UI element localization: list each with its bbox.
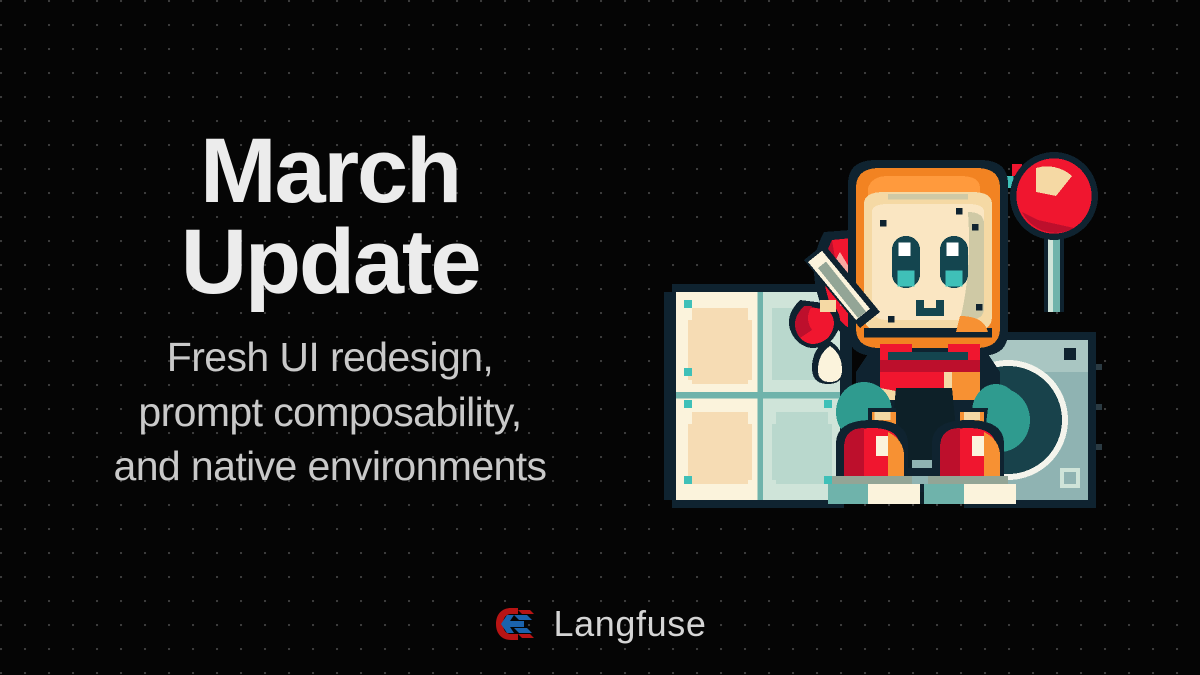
promo-banner: March Update Fresh UI redesign, prompt c… — [0, 0, 1200, 675]
eye-left — [892, 236, 920, 288]
page-title: March Update — [0, 126, 660, 308]
langfuse-logo-icon — [494, 604, 538, 644]
pixel-art-robot-mascot — [640, 108, 1120, 512]
page-subtitle-line-3: and native environments — [26, 439, 634, 494]
helmet — [848, 160, 1008, 356]
eye-right — [940, 236, 968, 288]
page-title-line-2: Update — [60, 217, 600, 308]
brand-lockup: Langfuse — [0, 604, 1200, 644]
page-title-line-1: March — [60, 126, 600, 217]
page-subtitle: Fresh UI redesign, prompt composability,… — [0, 330, 660, 494]
text-column: March Update Fresh UI redesign, prompt c… — [0, 126, 660, 494]
page-subtitle-line-1: Fresh UI redesign, — [26, 330, 634, 385]
page-subtitle-line-2: prompt composability, — [26, 385, 634, 440]
brand-name: Langfuse — [554, 606, 707, 642]
